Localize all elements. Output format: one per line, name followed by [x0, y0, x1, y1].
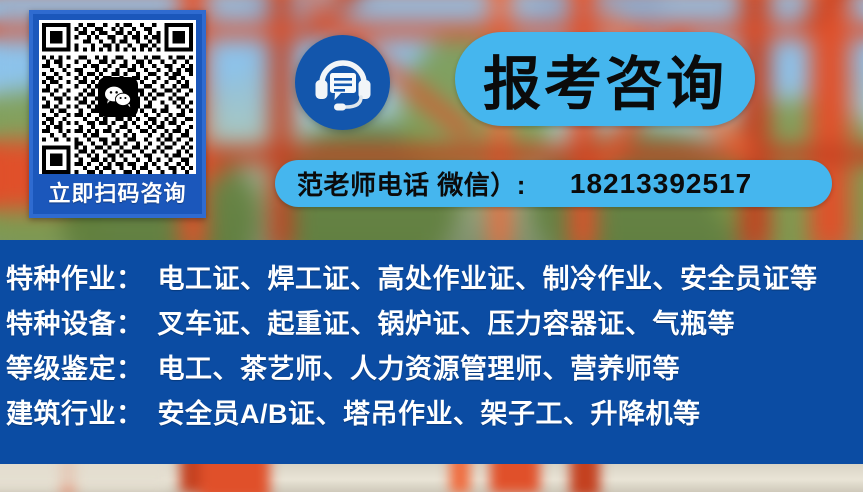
qr-code-image[interactable] [39, 20, 196, 174]
category-items: 电工证、焊工证、高处作业证、制冷作业、安全员证等 [158, 257, 818, 296]
category-label: 等级鉴定： [6, 347, 144, 386]
headset-support-badge[interactable] [295, 35, 390, 130]
category-row-grade-assessment: 等级鉴定： 电工、茶艺师、人力资源管理师、营养师等 [0, 347, 863, 392]
category-items: 电工、茶艺师、人力资源管理师、营养师等 [158, 347, 681, 386]
qr-card-caption: 立即扫码咨询 [48, 174, 186, 214]
wechat-logo-icon [98, 77, 138, 117]
course-category-band: 特种作业： 电工证、焊工证、高处作业证、制冷作业、安全员证等 特种设备： 叉车证… [0, 240, 863, 464]
consultation-title-pill[interactable]: 报考咨询 [455, 32, 755, 126]
category-label: 建筑行业： [6, 392, 144, 431]
phone-number[interactable]: 18213392517 [570, 168, 752, 200]
category-row-special-operations: 特种作业： 电工证、焊工证、高处作业证、制冷作业、安全员证等 [0, 257, 863, 302]
category-row-construction-industry: 建筑行业： 安全员A/B证、塔吊作业、架子工、升降机等 [0, 392, 863, 437]
category-items: 叉车证、起重证、锅炉证、压力容器证、气瓶等 [158, 302, 736, 341]
category-label: 特种作业： [6, 257, 144, 296]
qr-code-card[interactable]: 立即扫码咨询 [29, 10, 206, 218]
bottom-photo-strip [0, 464, 863, 492]
category-row-special-equipment: 特种设备： 叉车证、起重证、锅炉证、压力容器证、气瓶等 [0, 302, 863, 347]
promo-poster: 立即扫码咨询 报考咨询 范老师电话 微信）: 18213392517 [0, 0, 863, 492]
bottom-photo-blur-layer [0, 464, 863, 492]
phone-contact-pill[interactable]: 范老师电话 微信）: 18213392517 [275, 160, 832, 207]
phone-label: 范老师电话 微信）: [297, 165, 526, 202]
wechat-bubbles-icon [104, 85, 132, 109]
category-label: 特种设备： [6, 302, 144, 341]
category-items: 安全员A/B证、塔吊作业、架子工、升降机等 [158, 392, 701, 431]
consultation-title-text: 报考咨询 [483, 37, 727, 121]
headset-support-icon [312, 53, 374, 113]
